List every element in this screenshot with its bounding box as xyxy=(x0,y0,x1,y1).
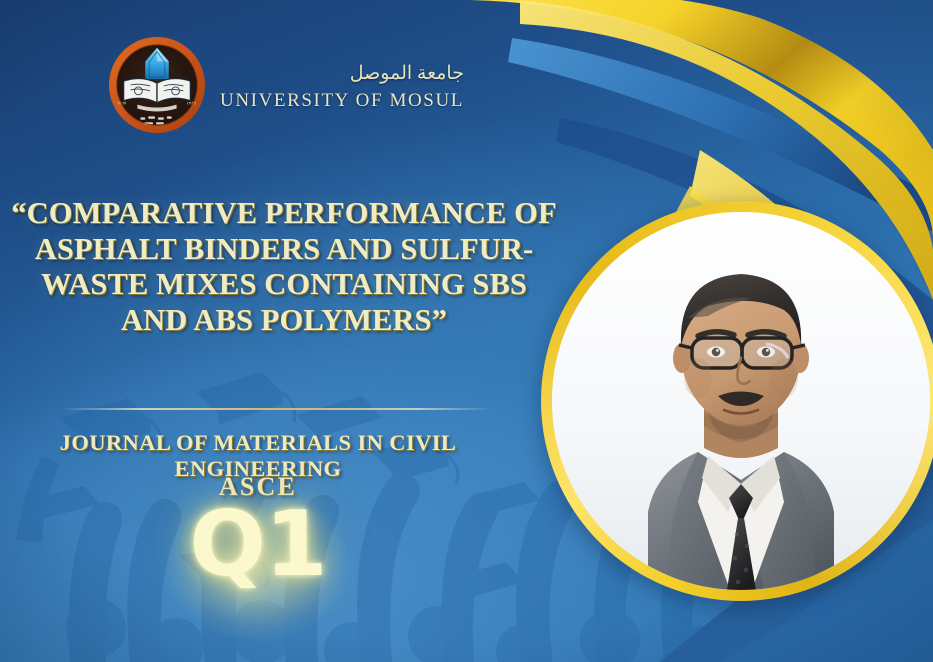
publication-title: “COMPARATIVE PERFORMANCE OF ASPHALT BIND… xyxy=(6,196,562,338)
university-of-mosul-crest-icon: ١٩٦٧ ١٣٨٦ xyxy=(108,36,206,134)
university-name-arabic: جامعة الموصل xyxy=(220,62,464,86)
researcher-portrait xyxy=(541,201,933,601)
quartile-badge: Q1 xyxy=(0,500,516,590)
university-name-english: UNIVERSITY OF MOSUL xyxy=(220,90,464,112)
gold-divider-line xyxy=(62,408,492,410)
university-header: ١٩٦٧ ١٣٨٦ جامعة الموصل UNIVERSITY OF MOS… xyxy=(108,36,464,134)
poster-canvas: ١٩٦٧ ١٣٨٦ جامعة الموصل UNIVERSITY OF MOS… xyxy=(0,0,933,662)
portrait-photo xyxy=(552,212,930,590)
